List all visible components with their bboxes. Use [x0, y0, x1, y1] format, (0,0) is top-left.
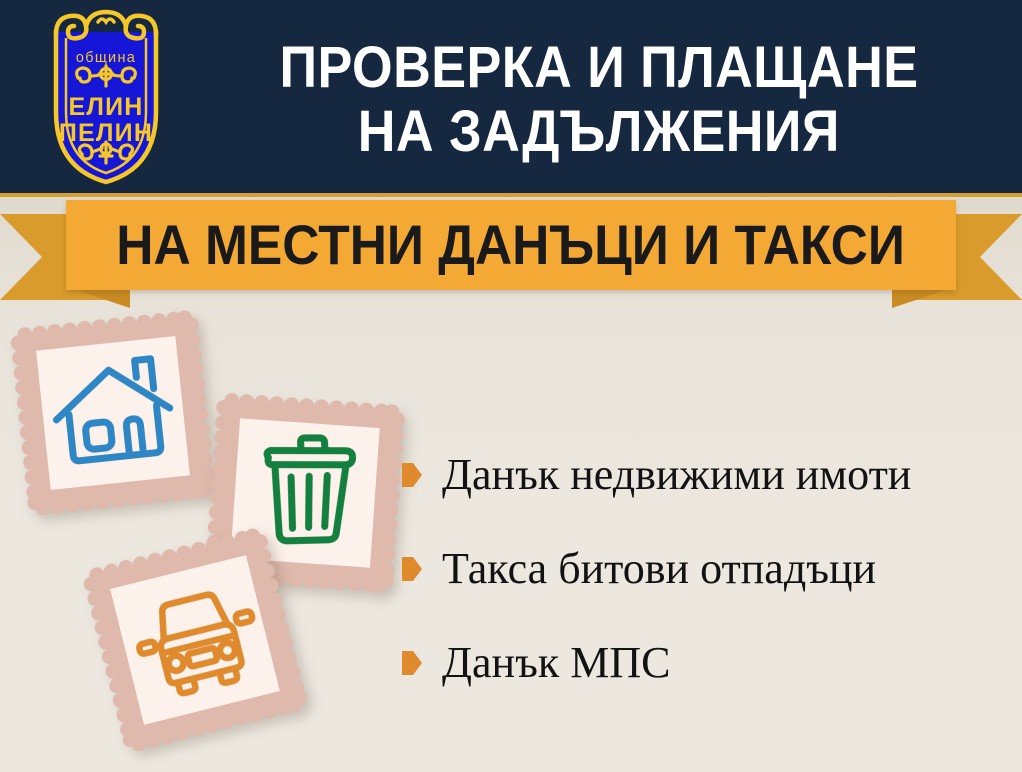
ribbon-text: НА МЕСТНИ ДАНЪЦИ И ТАКСИ: [117, 217, 906, 273]
list-item[interactable]: Данък недвижими имоти: [402, 428, 1012, 522]
emblem-name-line-1: ЕЛИН: [68, 93, 143, 121]
list-item-label: Данък недвижими имоти: [442, 452, 911, 498]
poster-canvas: НА МЕСТНИ ДАНЪЦИ И ТАКСИ ПРОВЕРКА И ПЛАЩ…: [0, 0, 1022, 772]
stamp-card-property: [9, 309, 218, 518]
ribbon-banner: НА МЕСТНИ ДАНЪЦИ И ТАКСИ: [0, 196, 1022, 312]
list-item-label: Такса битови отпадъци: [442, 546, 876, 592]
list-item[interactable]: Данък МПС: [402, 616, 1012, 710]
bullet-arrow-icon: [402, 557, 422, 581]
ribbon-main-panel: НА МЕСТНИ ДАНЪЦИ И ТАКСИ: [66, 200, 956, 290]
list-item-label: Данък МПС: [442, 640, 670, 686]
page-title-line-1: ПРОВЕРКА И ПЛАЩАНЕ: [279, 36, 918, 100]
bullet-arrow-icon: [402, 651, 422, 675]
page-title: ПРОВЕРКА И ПЛАЩАНЕ НА ЗАДЪЛЖЕНИЯ: [186, 20, 1012, 180]
tax-types-list: Данък недвижими имоти Такса битови отпад…: [402, 428, 1012, 710]
emblem-top-text: община: [76, 50, 136, 66]
list-item[interactable]: Такса битови отпадъци: [402, 522, 1012, 616]
page-title-line-2: НА ЗАДЪЛЖЕНИЯ: [358, 100, 840, 164]
header-gold-rule: [0, 193, 1022, 197]
municipality-emblem-icon: община ЕЛИН ПЕЛИН: [26, 8, 186, 188]
bullet-arrow-icon: [402, 463, 422, 487]
